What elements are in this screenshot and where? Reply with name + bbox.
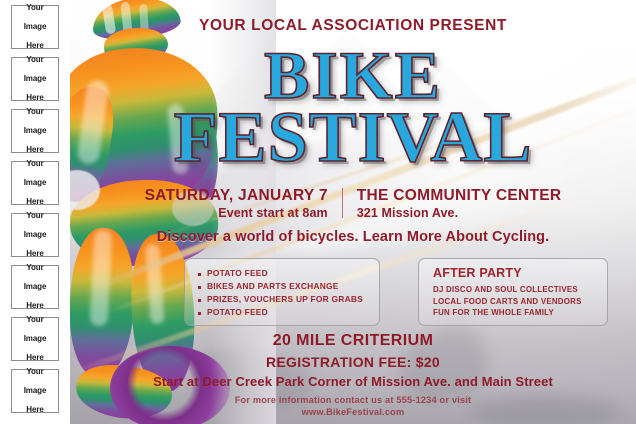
info-boxes: POTATO FEED BIKES AND PARTS EXCHANGE PRI… xyxy=(70,258,636,326)
bullet-icon xyxy=(198,312,201,315)
after-party-box: AFTER PARTY DJ DISCO AND SOUL COLLECTIVE… xyxy=(418,258,608,326)
bullet-icon xyxy=(198,286,201,289)
event-start-time: Event start at 8am xyxy=(145,205,328,222)
placeholder-line-2: Image xyxy=(24,230,47,240)
activity-label: BIKES AND PARTS EXCHANGE xyxy=(207,281,339,292)
placeholder-line-3: Here xyxy=(24,353,47,363)
event-date-block: SATURDAY, JANUARY 7 Event start at 8am xyxy=(145,186,342,222)
registration-fee: REGISTRATION FEE: $20 xyxy=(70,354,636,370)
activity-label: POTATO FEED xyxy=(207,268,268,279)
bike-festival-poster: YourImageHere YourImageHere YourImageHer… xyxy=(0,0,636,424)
after-party-line: LOCAL FOOD CARTS AND VENDORS xyxy=(433,296,607,308)
placeholder-line-1: Your xyxy=(24,263,47,273)
placeholder-line-2: Image xyxy=(24,282,47,292)
bullet-icon xyxy=(198,273,201,276)
placeholder-line-1: Your xyxy=(24,211,47,221)
activity-item: POTATO FEED xyxy=(198,307,379,318)
placeholder-line-3: Here xyxy=(24,41,47,51)
race-name: 20 MILE CRITERIUM xyxy=(70,332,636,350)
event-date: SATURDAY, JANUARY 7 xyxy=(145,186,328,205)
contact-info: For more information contact us at 555-1… xyxy=(70,394,636,418)
image-placeholder-3[interactable]: YourImageHere xyxy=(11,109,59,153)
placeholder-line-1: Your xyxy=(24,159,47,169)
placeholder-line-3: Here xyxy=(24,405,47,415)
presenter-line: YOUR LOCAL ASSOCIATION PRESENT xyxy=(70,17,636,35)
event-address: 321 Mission Ave. xyxy=(357,205,562,222)
event-venue-block: THE COMMUNITY CENTER 321 Mission Ave. xyxy=(343,186,562,222)
event-venue: THE COMMUNITY CENTER xyxy=(357,186,562,205)
placeholder-line-2: Image xyxy=(24,334,47,344)
placeholder-line-2: Image xyxy=(24,126,47,136)
activity-item: BIKES AND PARTS EXCHANGE xyxy=(198,281,379,292)
placeholder-line-2: Image xyxy=(24,22,47,32)
activities-box: POTATO FEED BIKES AND PARTS EXCHANGE PRI… xyxy=(184,258,380,326)
placeholder-line-3: Here xyxy=(24,197,47,207)
placeholder-line-1: Your xyxy=(24,107,47,117)
image-placeholder-8[interactable]: YourImageHere xyxy=(11,369,59,413)
placeholder-line-3: Here xyxy=(24,93,47,103)
image-placeholder-5[interactable]: YourImageHere xyxy=(11,213,59,257)
placeholder-line-2: Image xyxy=(24,178,47,188)
event-when-where: SATURDAY, JANUARY 7 Event start at 8am T… xyxy=(70,186,636,222)
activity-label: POTATO FEED xyxy=(207,307,268,318)
image-placeholder-strip: YourImageHere YourImageHere YourImageHer… xyxy=(0,0,70,424)
placeholder-line-2: Image xyxy=(24,386,47,396)
after-party-line: FUN FOR THE WHOLE FAMILY xyxy=(433,307,607,319)
race-start-location: Start at Deer Creek Park Corner of Missi… xyxy=(70,374,636,389)
event-tagline: Discover a world of bicycles. Learn More… xyxy=(70,229,636,245)
placeholder-line-3: Here xyxy=(24,145,47,155)
placeholder-line-3: Here xyxy=(24,301,47,311)
image-placeholder-1[interactable]: YourImageHere xyxy=(11,5,59,49)
activity-item: POTATO FEED xyxy=(198,268,379,279)
contact-phone-line: For more information contact us at 555-1… xyxy=(70,394,636,406)
placeholder-line-1: Your xyxy=(24,315,47,325)
poster-title-line-2: FESTIVAL xyxy=(70,106,636,168)
when-where-divider xyxy=(342,188,343,218)
poster-content: YOUR LOCAL ASSOCIATION PRESENT BIKE FEST… xyxy=(70,0,636,424)
placeholder-line-1: Your xyxy=(24,55,47,65)
contact-website[interactable]: www.BikeFestival.com xyxy=(70,406,636,418)
after-party-line: DJ DISCO AND SOUL COLLECTIVES xyxy=(433,284,607,296)
placeholder-line-1: Your xyxy=(24,3,47,13)
image-placeholder-7[interactable]: YourImageHere xyxy=(11,317,59,361)
image-placeholder-2[interactable]: YourImageHere xyxy=(11,57,59,101)
placeholder-line-1: Your xyxy=(24,367,47,377)
image-placeholder-4[interactable]: YourImageHere xyxy=(11,161,59,205)
bullet-icon xyxy=(198,299,201,302)
activity-item: PRIZES, VOUCHERS UP FOR GRABS xyxy=(198,294,379,305)
image-placeholder-6[interactable]: YourImageHere xyxy=(11,265,59,309)
activity-label: PRIZES, VOUCHERS UP FOR GRABS xyxy=(207,294,363,305)
placeholder-line-3: Here xyxy=(24,249,47,259)
after-party-heading: AFTER PARTY xyxy=(433,266,607,280)
placeholder-line-2: Image xyxy=(24,74,47,84)
